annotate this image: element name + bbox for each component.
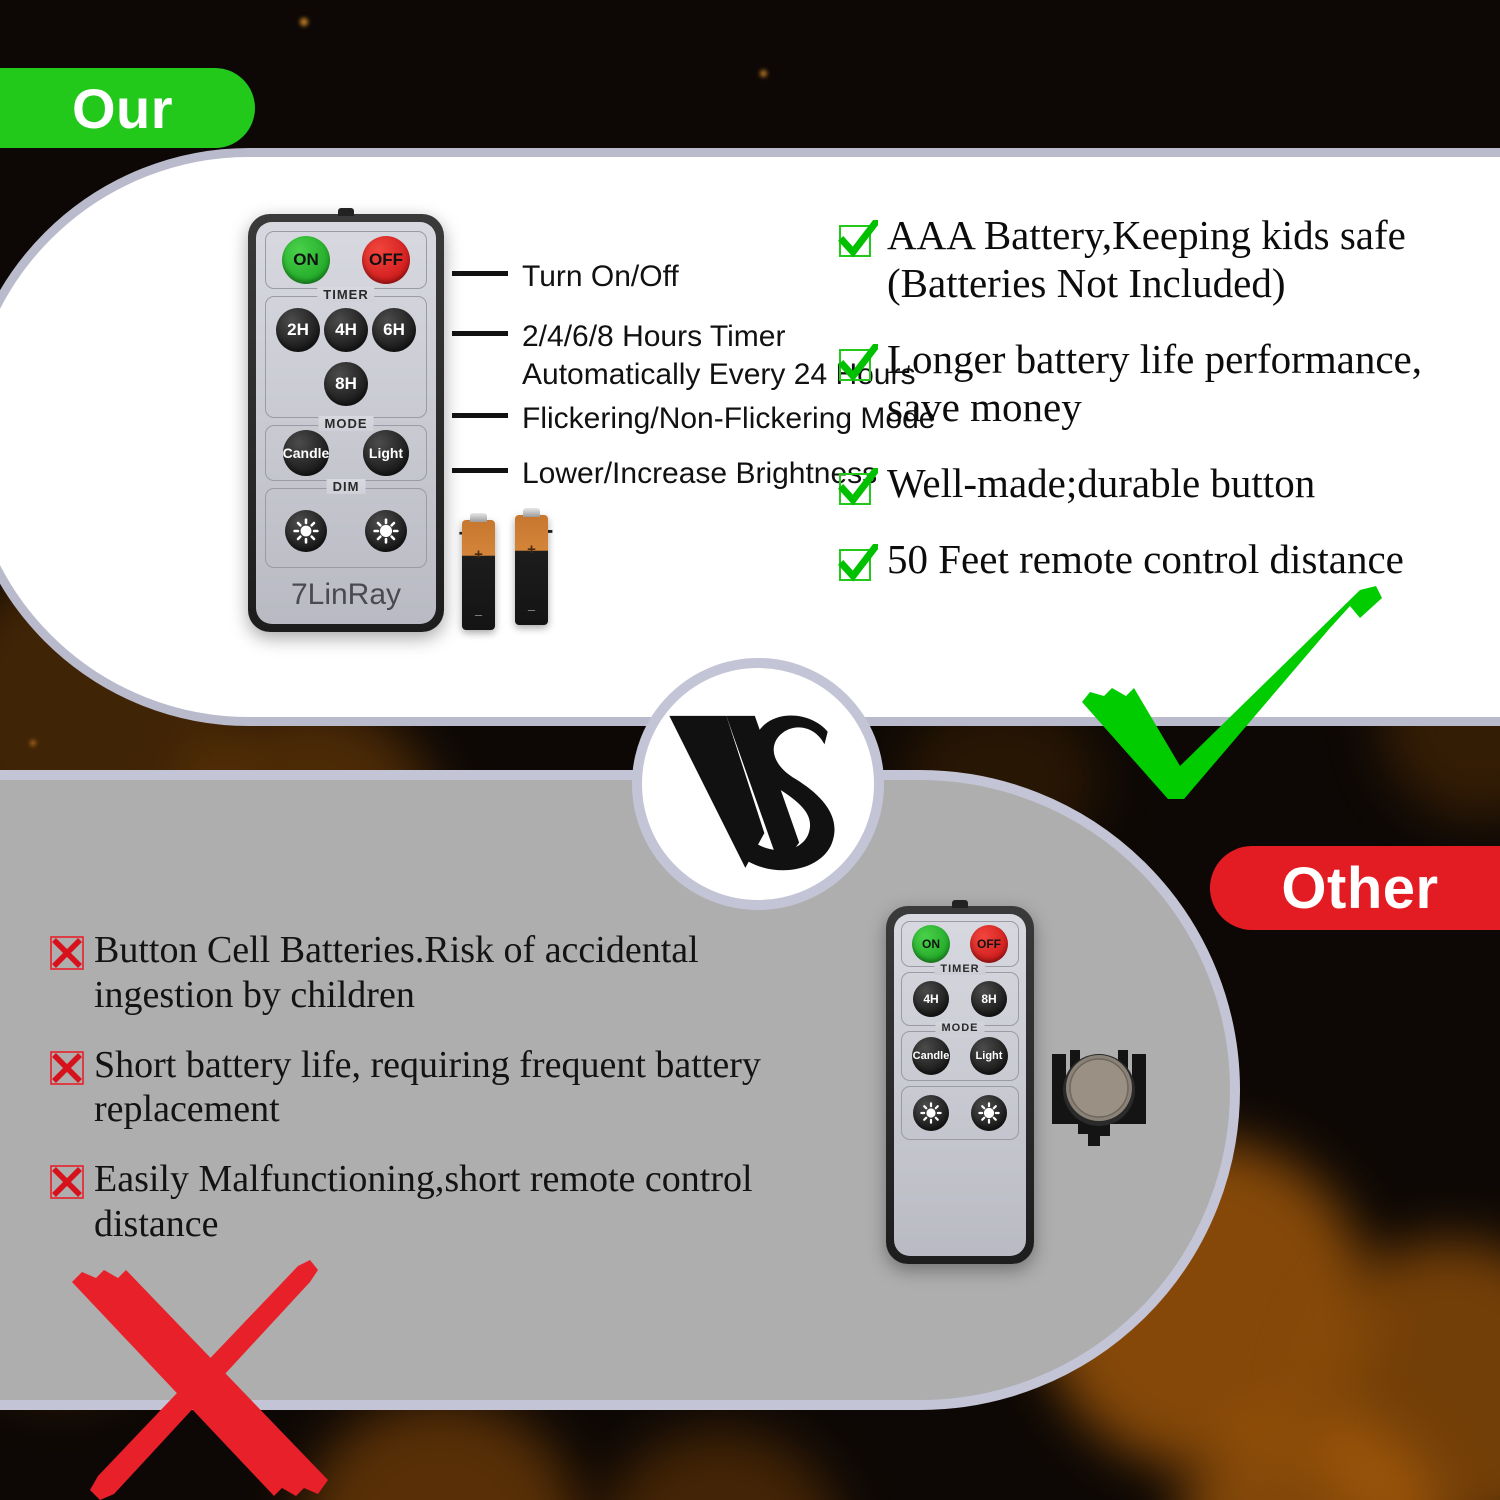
pro-item: Well-made;durable button bbox=[838, 460, 1498, 508]
timer-4h-button[interactable]: 4H bbox=[913, 981, 949, 1017]
callout-text: Turn On/Off bbox=[522, 258, 679, 296]
callout-line bbox=[452, 331, 508, 336]
infographic-canvas: Our ON OFF TIMER 2H 4H 6H 8H MODE Candle… bbox=[0, 0, 1500, 1500]
other-remote-control[interactable]: ON OFF TIMER 4H 8H MODE Candle Light bbox=[886, 906, 1034, 1264]
dim-buttons-row bbox=[266, 510, 426, 552]
vs-icon bbox=[663, 689, 853, 879]
candle-mode-button[interactable]: Candle bbox=[912, 1037, 950, 1075]
mode-group: MODE Candle Light bbox=[265, 425, 427, 481]
check-icon bbox=[838, 220, 878, 260]
on-button[interactable]: ON bbox=[282, 236, 330, 284]
sun-icon bbox=[293, 518, 319, 544]
aaa-battery: + – bbox=[462, 520, 495, 630]
bokeh-sparkle bbox=[760, 70, 767, 77]
bokeh-sparkle bbox=[30, 740, 36, 746]
mode-group: MODE Candle Light bbox=[901, 1031, 1019, 1081]
con-text: Button Cell Batteries.Risk of accidental… bbox=[94, 928, 790, 1018]
pro-text: AAA Battery,Keeping kids safe (Batteries… bbox=[887, 212, 1498, 308]
our-badge: Our bbox=[0, 68, 255, 148]
battery-minus-label: – bbox=[515, 602, 548, 617]
light-mode-button[interactable]: Light bbox=[363, 430, 409, 476]
callout-text: Lower/Increase Brightness bbox=[522, 455, 877, 493]
ir-emitter-icon bbox=[952, 900, 968, 908]
dim-up-button[interactable] bbox=[971, 1095, 1007, 1131]
dim-down-button[interactable] bbox=[285, 510, 327, 552]
other-badge: Other bbox=[1210, 846, 1500, 930]
on-button[interactable]: ON bbox=[912, 925, 950, 963]
timer-2h-button[interactable]: 2H bbox=[276, 308, 320, 352]
timer-group-label: TIMER bbox=[317, 287, 374, 302]
check-icon bbox=[838, 344, 878, 384]
x-icon bbox=[50, 1165, 84, 1199]
sun-icon bbox=[373, 518, 399, 544]
sun-icon bbox=[920, 1102, 942, 1124]
coin-cell-battery bbox=[1044, 1038, 1154, 1154]
pro-item: 50 Feet remote control distance bbox=[838, 536, 1498, 584]
big-check-icon bbox=[1060, 584, 1410, 844]
pro-text: 50 Feet remote control distance bbox=[887, 536, 1404, 584]
timer-8h-button[interactable]: 8H bbox=[971, 981, 1007, 1017]
battery-cap bbox=[523, 508, 540, 517]
x-icon bbox=[50, 1051, 84, 1085]
sun-icon bbox=[978, 1102, 1000, 1124]
mode-group-label: MODE bbox=[319, 416, 374, 431]
bokeh-sparkle bbox=[300, 18, 308, 26]
vs-badge bbox=[632, 658, 884, 910]
mode-group-label: MODE bbox=[936, 1022, 985, 1034]
check-icon bbox=[838, 468, 878, 508]
check-icon bbox=[838, 544, 878, 584]
timer-8h-button[interactable]: 8H bbox=[324, 362, 368, 406]
timer-group-label: TIMER bbox=[934, 963, 985, 975]
remote-face: ON OFF TIMER 2H 4H 6H 8H MODE Candle Lig… bbox=[256, 222, 436, 624]
off-button[interactable]: OFF bbox=[970, 925, 1008, 963]
callout-line bbox=[452, 413, 508, 418]
aaa-battery: + – bbox=[515, 515, 548, 625]
pro-text: Well-made;durable button bbox=[887, 460, 1315, 508]
cons-list: Button Cell Batteries.Risk of accidental… bbox=[50, 928, 790, 1272]
dim-group-label: DIM bbox=[327, 479, 366, 494]
power-group: ON OFF bbox=[265, 231, 427, 289]
power-group: ON OFF bbox=[901, 921, 1019, 967]
dim-up-button[interactable] bbox=[365, 510, 407, 552]
callout-line bbox=[452, 468, 508, 473]
con-item: Easily Malfunctioning,short remote contr… bbox=[50, 1157, 790, 1247]
battery-plus-label: + bbox=[462, 546, 495, 563]
callout-dim: Lower/Increase Brightness bbox=[452, 455, 877, 493]
pro-text: Longer battery life performance, save mo… bbox=[887, 336, 1498, 432]
pros-list: AAA Battery,Keeping kids safe (Batteries… bbox=[838, 212, 1498, 612]
timer-group: TIMER 4H 8H bbox=[901, 972, 1019, 1026]
con-item: Button Cell Batteries.Risk of accidental… bbox=[50, 928, 790, 1018]
candle-mode-button[interactable]: Candle bbox=[283, 430, 329, 476]
battery-plus-label: + bbox=[515, 541, 548, 558]
dim-group: DIM bbox=[265, 488, 427, 568]
callout-power: Turn On/Off bbox=[452, 258, 679, 296]
dim-down-button[interactable] bbox=[913, 1095, 949, 1131]
callout-line bbox=[452, 271, 508, 276]
timer-4h-button[interactable]: 4H bbox=[324, 308, 368, 352]
pro-item: AAA Battery,Keeping kids safe (Batteries… bbox=[838, 212, 1498, 308]
battery-minus-label: – bbox=[462, 607, 495, 622]
battery-cap bbox=[470, 513, 487, 522]
off-button[interactable]: OFF bbox=[362, 236, 410, 284]
light-mode-button[interactable]: Light bbox=[970, 1037, 1008, 1075]
con-item: Short battery life, requiring frequent b… bbox=[50, 1043, 790, 1133]
dim-group bbox=[901, 1086, 1019, 1140]
pro-item: Longer battery life performance, save mo… bbox=[838, 336, 1498, 432]
bokeh-circle bbox=[600, 1430, 840, 1500]
remote-brand-label: 7LinRay bbox=[265, 575, 427, 615]
timer-6h-button[interactable]: 6H bbox=[372, 308, 416, 352]
dim-labels-row: – + bbox=[426, 516, 586, 547]
ir-emitter-icon bbox=[338, 208, 354, 216]
timer-group: TIMER 2H 4H 6H 8H bbox=[265, 296, 427, 418]
other-badge-label: Other bbox=[1281, 855, 1438, 922]
con-text: Easily Malfunctioning,short remote contr… bbox=[94, 1157, 790, 1247]
our-badge-label: Our bbox=[72, 76, 173, 141]
con-text: Short battery life, requiring frequent b… bbox=[94, 1043, 790, 1133]
big-x-icon bbox=[66, 1244, 356, 1500]
x-icon bbox=[50, 936, 84, 970]
remote-face: ON OFF TIMER 4H 8H MODE Candle Light bbox=[894, 914, 1026, 1256]
our-remote-control[interactable]: ON OFF TIMER 2H 4H 6H 8H MODE Candle Lig… bbox=[248, 214, 444, 632]
